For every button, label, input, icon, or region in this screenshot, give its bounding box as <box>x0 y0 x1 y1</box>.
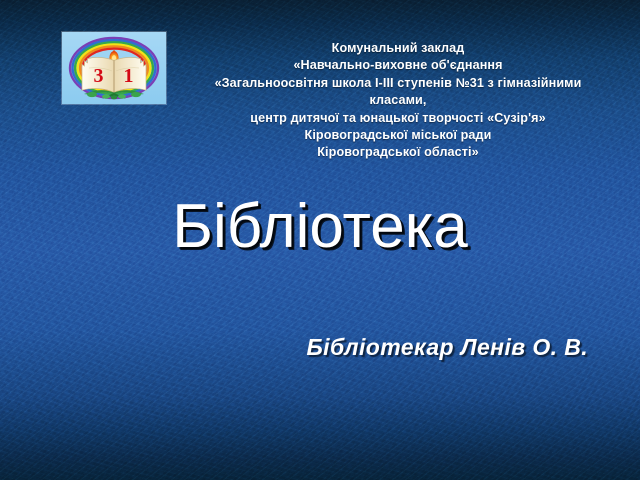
institution-header-line-4: центр дитячої та юнацької творчості «Суз… <box>188 110 608 127</box>
institution-header-line-1: Комунальний заклад <box>188 40 608 57</box>
institution-header-line-2: «Навчально-виховне об'єднання <box>188 57 608 74</box>
institution-header-line-6: Кіровоградської області» <box>188 144 608 161</box>
emblem-digit-1: 1 <box>124 65 134 87</box>
author-byline: Бібліотекар Ленів О. В. <box>307 333 589 361</box>
open-book-icon <box>82 57 146 92</box>
emblem-digit-3: 3 <box>94 65 104 87</box>
school-emblem-graphic: 3 1 <box>62 32 166 104</box>
slide-title: Бібліотека <box>0 192 640 262</box>
institution-header-line-3: «Загальноосвітня школа I-III ступенів №3… <box>188 75 608 110</box>
institution-header: Комунальний заклад «Навчально-виховне об… <box>188 40 608 162</box>
presentation-slide: 3 1 Комунальний заклад «Навчально-виховн… <box>0 0 640 480</box>
school-emblem-logo: 3 1 <box>62 32 166 104</box>
institution-header-line-5: Кіровоградської міської ради <box>188 127 608 144</box>
